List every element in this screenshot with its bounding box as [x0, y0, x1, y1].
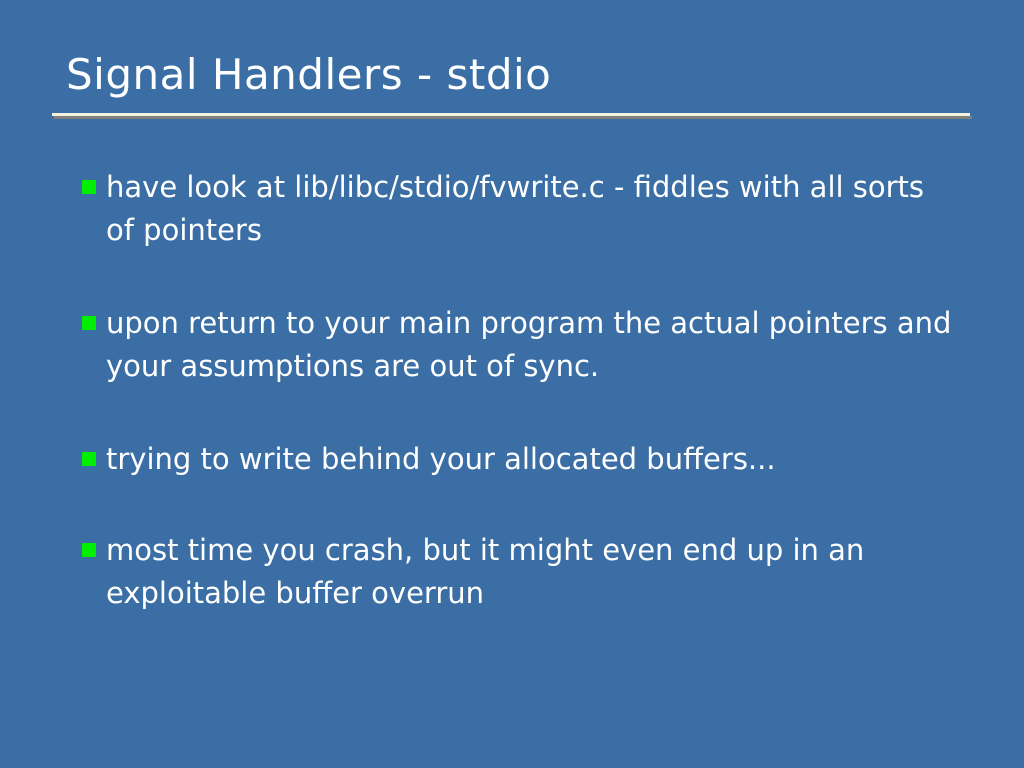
list-item: have look at lib/libc/stdio/fvwrite.c - …: [78, 166, 958, 252]
list-item-label: upon return to your main program the act…: [106, 302, 958, 388]
divider-shadow: [54, 116, 972, 119]
square-bullet-icon: [82, 180, 96, 194]
page-title: Signal Handlers - stdio: [66, 49, 986, 101]
list-item: upon return to your main program the act…: [78, 302, 958, 388]
square-bullet-icon: [82, 452, 96, 466]
square-bullet-icon: [82, 316, 96, 330]
list-item-label: have look at lib/libc/stdio/fvwrite.c - …: [106, 166, 958, 252]
list-item: trying to write behind your allocated bu…: [78, 438, 958, 481]
list-item-label: most time you crash, but it might even e…: [106, 529, 958, 615]
list-item: most time you crash, but it might even e…: [78, 529, 958, 615]
presentation-slide: Signal Handlers - stdio have look at lib…: [0, 0, 1024, 768]
title-divider-rule: [52, 113, 970, 120]
list-item-label: trying to write behind your allocated bu…: [106, 438, 958, 481]
square-bullet-icon: [82, 543, 96, 557]
bullet-list: have look at lib/libc/stdio/fvwrite.c - …: [78, 166, 958, 615]
